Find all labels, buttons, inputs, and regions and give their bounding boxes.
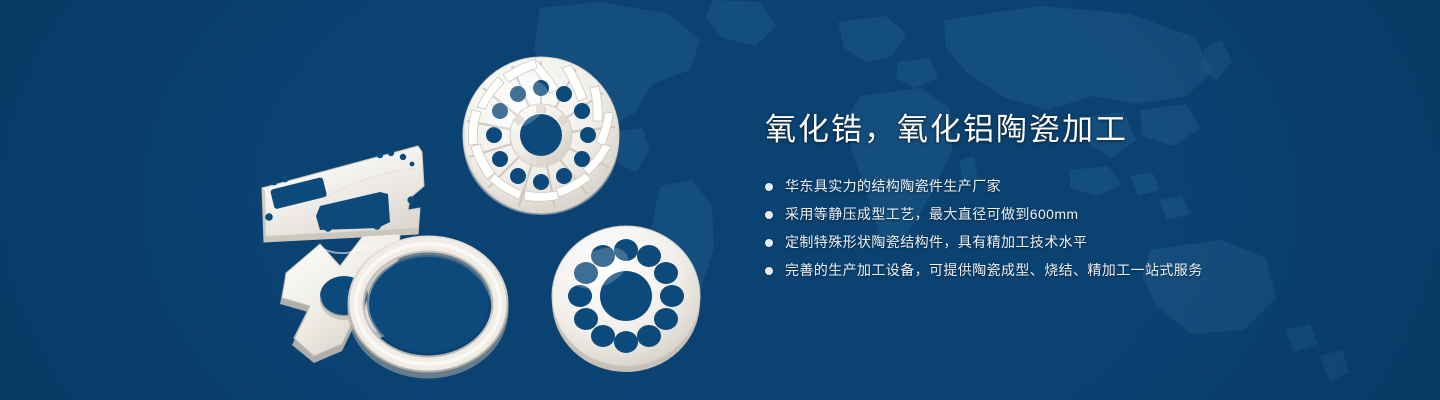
ceramic-valve-plate [552, 226, 700, 372]
list-item: 采用等静压成型工艺，最大直径可做到600mm [765, 204, 1385, 225]
ceramic-products-image [228, 38, 718, 383]
bullet-dot-icon [765, 211, 773, 219]
ceramic-impeller [463, 57, 619, 215]
feature-text: 采用等静压成型工艺，最大直径可做到600mm [785, 204, 1078, 225]
hero-banner: 氧化锆，氧化铝陶瓷加工 华东具实力的结构陶瓷件生产厂家 采用等静压成型工艺，最大… [0, 0, 1440, 400]
list-item: 完善的生产加工设备，可提供陶瓷成型、烧结、精加工一站式服务 [765, 260, 1385, 281]
list-item: 定制特殊形状陶瓷结构件，具有精加工技术水平 [765, 232, 1385, 253]
banner-title: 氧化锆，氧化铝陶瓷加工 [765, 108, 1385, 152]
feature-text: 定制特殊形状陶瓷结构件，具有精加工技术水平 [785, 232, 1087, 253]
banner-copy: 氧化锆，氧化铝陶瓷加工 华东具实力的结构陶瓷件生产厂家 采用等静压成型工艺，最大… [765, 108, 1385, 288]
bullet-dot-icon [765, 183, 773, 191]
feature-text: 完善的生产加工设备，可提供陶瓷成型、烧结、精加工一站式服务 [785, 260, 1203, 281]
bullet-dot-icon [765, 267, 773, 275]
list-item: 华东具实力的结构陶瓷件生产厂家 [765, 176, 1385, 197]
bullet-dot-icon [765, 239, 773, 247]
feature-text: 华东具实力的结构陶瓷件生产厂家 [785, 176, 1001, 197]
ceramic-ring [356, 244, 500, 370]
feature-list: 华东具实力的结构陶瓷件生产厂家 采用等静压成型工艺，最大直径可做到600mm 定… [765, 176, 1385, 281]
ceramic-base-plate [262, 146, 424, 242]
